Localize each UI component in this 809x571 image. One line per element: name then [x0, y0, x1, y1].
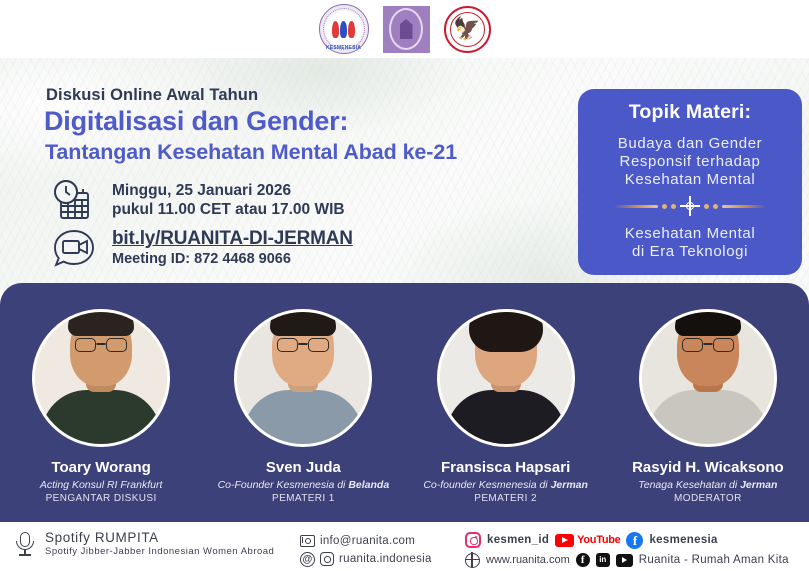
youtube-play-box [555, 534, 574, 547]
garuda-logo-inner-ring [450, 12, 485, 47]
ornament-dot [662, 204, 667, 209]
speaker-role-text: Acting Konsul RI Frankfurt [40, 479, 163, 491]
mic-arc [16, 541, 34, 550]
footer-email-row[interactable]: info@ruanita.com [300, 532, 432, 550]
page-subtitle: Tantangan Kesehatan Mental Abad ke-21 [45, 140, 457, 165]
youtube-icon[interactable] [616, 554, 633, 567]
kesmenesia-logo: KESMENESIA [319, 4, 369, 54]
speaker-name: Rasyid H. Wicaksono [632, 459, 784, 476]
speaker-card-2: Sven Juda Co-Founder Kesmenesia di Belan… [202, 283, 404, 522]
meeting-link[interactable]: bit.ly/RUANITA-DI-JERMAN [112, 228, 353, 250]
star-center [686, 202, 694, 210]
speaker-tag: PEMATERI 1 [272, 493, 335, 504]
topic-item-1-line-1: Budaya dan Gender [578, 135, 802, 153]
speaker-role-text: Co-Founder Kesmenesia di [218, 479, 349, 491]
speaker-role-text: Co-founder Kesmenesia di [423, 479, 550, 491]
speaker-card-4: Rasyid H. Wicaksono Tenaga Kesehatan di … [607, 283, 809, 522]
event-datetime-text: Minggu, 25 Januari 2026 pukul 11.00 CET … [112, 182, 345, 219]
page-title: Digitalisasi dan Gender: [44, 106, 348, 137]
microphone-icon [14, 531, 36, 557]
footer-website[interactable]: www.ruanita.com [486, 554, 570, 566]
footer-instagram-kesmen: kesmen_id [487, 534, 549, 546]
university-logo-oval [389, 8, 423, 50]
portrait-hair [469, 309, 543, 352]
portrait-illustration [440, 312, 572, 444]
ornament-dot [713, 204, 718, 209]
event-date: Minggu, 25 Januari 2026 [112, 182, 345, 200]
footer-spotify-block: Spotify RUMPITA Spotify Jibber-Jabber In… [14, 530, 274, 557]
speaker-name: Sven Juda [266, 459, 341, 476]
speaker-role: Tenaga Kesehatan di Jerman [638, 479, 777, 491]
speaker-role-highlight: Jerman [551, 479, 588, 491]
instagram-icon[interactable] [465, 532, 481, 548]
envelope-icon [300, 535, 315, 547]
portrait-body [446, 390, 566, 447]
speaker-role: Acting Konsul RI Frankfurt [40, 479, 163, 491]
starburst-icon [680, 196, 700, 216]
speaker-tag: MODERATOR [674, 493, 742, 504]
youtube-wordmark: YouTube [577, 534, 620, 546]
threads-icon: @ [300, 552, 315, 567]
university-logo-pillar [400, 19, 413, 39]
event-datetime-row: Minggu, 25 Januari 2026 pukul 11.00 CET … [50, 178, 345, 222]
portrait-hair [68, 309, 134, 336]
ornament-line-right [722, 205, 766, 208]
footer-tagline: Ruanita - Rumah Aman Kita [639, 554, 789, 566]
speaker-role-text: Tenaga Kesehatan di [638, 479, 740, 491]
garuda-logo: 🦅 [444, 6, 491, 53]
eyebrow-text: Diskusi Online Awal Tahun [46, 86, 258, 105]
speaker-card-3: Fransisca Hapsari Co-founder Kesmenesia … [405, 283, 607, 522]
topic-item-2: Kesehatan Mental di Era Teknologi [578, 225, 802, 261]
facebook-icon[interactable]: f [576, 553, 590, 567]
portrait-body [41, 390, 161, 447]
linkedin-icon[interactable]: in [596, 553, 610, 567]
ornamental-divider [592, 196, 788, 216]
instagram-icon [320, 552, 334, 566]
globe-icon [465, 553, 480, 568]
portrait-body [648, 390, 768, 447]
speaker-role-highlight: Belanda [348, 479, 389, 491]
topic-item-1: Budaya dan Gender Responsif terhadap Kes… [578, 135, 802, 189]
university-logo [383, 6, 430, 53]
footer-social-block: kesmen_id YouTube f kesmenesia www.ruani… [465, 530, 789, 570]
speaker-photo-rasyid-h-wicaksono [639, 309, 777, 447]
portrait-hair [675, 309, 741, 336]
footer-spotify-text: Spotify RUMPITA Spotify Jibber-Jabber In… [45, 530, 274, 557]
speaker-photo-fransisca-hapsari [437, 309, 575, 447]
topic-card: Topik Materi: Budaya dan Gender Responsi… [578, 89, 802, 275]
poster-root: KESMENESIA 🦅 Diskusi Online Awal Tahun D… [0, 0, 809, 571]
footer-instagram-ruanita-row[interactable]: @ ruanita.indonesia [300, 550, 432, 568]
footer-email: info@ruanita.com [320, 535, 415, 547]
footer-contact-block: info@ruanita.com @ ruanita.indonesia [300, 532, 432, 568]
footer-social-row-1: kesmen_id YouTube f kesmenesia [465, 530, 789, 550]
topic-item-1-line-3: Kesehatan Mental [578, 171, 802, 189]
portrait-illustration [35, 312, 167, 444]
ornament-line-left [614, 205, 658, 208]
speakers-grid: Toary Worang Acting Konsul RI Frankfurt … [0, 283, 809, 522]
portrait-illustration [237, 312, 369, 444]
topic-item-2-line-1: Kesehatan Mental [578, 225, 802, 243]
spotify-subtitle: Spotify Jibber-Jabber Indonesian Women A… [45, 546, 274, 557]
topic-item-1-line-2: Responsif terhadap [578, 153, 802, 171]
footer-social-row-2: www.ruanita.com f in Ruanita - Rumah Ama… [465, 550, 789, 570]
event-link-text: bit.ly/RUANITA-DI-JERMAN Meeting ID: 872… [112, 228, 353, 268]
portrait-glasses-icon [682, 337, 734, 352]
logo-strip: KESMENESIA 🦅 [0, 0, 809, 58]
portrait-glasses-icon [75, 337, 127, 352]
speaker-name: Toary Worang [51, 459, 150, 476]
topic-item-2-line-2: di Era Teknologi [578, 243, 802, 261]
youtube-icon[interactable]: YouTube [555, 534, 620, 547]
speaker-role: Co-Founder Kesmenesia di Belanda [218, 479, 390, 491]
calendar-clock-icon [50, 178, 98, 222]
speaker-tag: PENGANTAR DISKUSI [46, 493, 157, 504]
speaker-tag: PEMATERI 2 [474, 493, 537, 504]
portrait-illustration [642, 312, 774, 444]
facebook-icon[interactable]: f [626, 532, 643, 549]
portrait-hair [270, 309, 336, 336]
ornament-dot [671, 204, 676, 209]
speaker-role-highlight: Jerman [740, 479, 777, 491]
portrait-glasses-icon [277, 337, 329, 352]
mic-base [19, 554, 31, 556]
kesmenesia-logo-ring [323, 8, 365, 50]
speaker-role: Co-founder Kesmenesia di Jerman [423, 479, 588, 491]
footer-instagram-ruanita: ruanita.indonesia [339, 553, 432, 565]
speaker-card-1: Toary Worang Acting Konsul RI Frankfurt … [0, 283, 202, 522]
portrait-body [243, 390, 363, 447]
spotify-title: Spotify RUMPITA [45, 530, 274, 545]
topic-card-title: Topik Materi: [578, 101, 802, 124]
ornament-dot [704, 204, 709, 209]
speaker-photo-toary-worang [32, 309, 170, 447]
event-link-row: bit.ly/RUANITA-DI-JERMAN Meeting ID: 872… [50, 226, 353, 270]
speakers-panel: Toary Worang Acting Konsul RI Frankfurt … [0, 283, 809, 522]
footer-facebook-name: kesmenesia [649, 534, 717, 546]
speaker-photo-sven-juda [234, 309, 372, 447]
meeting-id: Meeting ID: 872 4468 9066 [112, 250, 353, 268]
event-time: pukul 11.00 CET atau 17.00 WIB [112, 200, 345, 219]
envelope-inner [305, 538, 311, 544]
kesmenesia-logo-caption: KESMENESIA [320, 45, 368, 51]
speaker-name: Fransisca Hapsari [441, 459, 570, 476]
video-call-icon [50, 226, 98, 270]
